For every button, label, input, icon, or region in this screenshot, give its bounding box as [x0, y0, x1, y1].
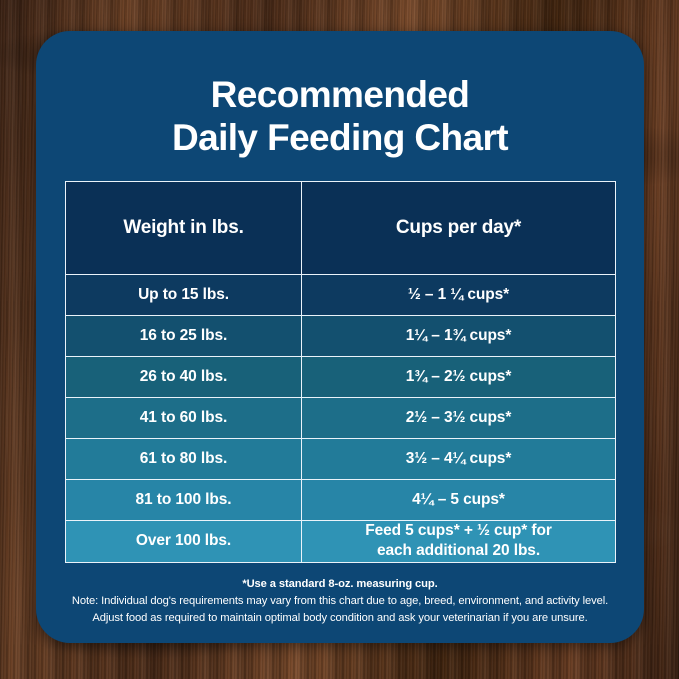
cell-weight: Up to 15 lbs. — [66, 275, 302, 316]
cell-weight: 26 to 40 lbs. — [66, 357, 302, 398]
cell-cups: 1¾ – 2½ cups* — [302, 357, 616, 398]
cell-weight: 81 to 100 lbs. — [66, 480, 302, 521]
table-row: 61 to 80 lbs. 3½ – 4¼ cups* — [66, 439, 616, 480]
title-line-2: Daily Feeding Chart — [36, 116, 644, 159]
table-row: Over 100 lbs. Feed 5 cups* + ½ cup* for … — [66, 521, 616, 563]
table-row: 41 to 60 lbs. 2½ – 3½ cups* — [66, 398, 616, 439]
column-header-cups: Cups per day* — [302, 182, 616, 275]
cell-cups-line-1: Feed 5 cups* + ½ cup* for — [365, 522, 552, 539]
footnote-standard-cup: *Use a standard 8-oz. measuring cup. — [56, 576, 624, 593]
table-row: Up to 15 lbs. ½ – 1 ¼ cups* — [66, 275, 616, 316]
footnote-note-line-1: Note: Individual dog's requirements may … — [56, 593, 624, 610]
feeding-chart-card: Recommended Daily Feeding Chart Weight i… — [36, 31, 644, 643]
cell-weight: 16 to 25 lbs. — [66, 316, 302, 357]
title-line-1: Recommended — [36, 73, 644, 116]
cell-cups: 2½ – 3½ cups* — [302, 398, 616, 439]
cell-weight: Over 100 lbs. — [66, 521, 302, 563]
cell-cups-line-2: each additional 20 lbs. — [377, 542, 540, 559]
table-row: 16 to 25 lbs. 1¼ – 1¾ cups* — [66, 316, 616, 357]
table-row: 81 to 100 lbs. 4¼ – 5 cups* — [66, 480, 616, 521]
footnotes-block: *Use a standard 8-oz. measuring cup. Not… — [56, 576, 624, 627]
cell-weight: 61 to 80 lbs. — [66, 439, 302, 480]
footnote-note-line-2: Adjust food as required to maintain opti… — [56, 610, 624, 627]
feeding-chart-table: Weight in lbs. Cups per day* Up to 15 lb… — [65, 181, 616, 563]
page-title: Recommended Daily Feeding Chart — [36, 31, 644, 160]
table-row: 26 to 40 lbs. 1¾ – 2½ cups* — [66, 357, 616, 398]
cell-cups: 1¼ – 1¾ cups* — [302, 316, 616, 357]
cell-cups: Feed 5 cups* + ½ cup* for each additiona… — [302, 521, 616, 563]
cell-weight: 41 to 60 lbs. — [66, 398, 302, 439]
cell-cups: ½ – 1 ¼ cups* — [302, 275, 616, 316]
cell-cups: 3½ – 4¼ cups* — [302, 439, 616, 480]
cell-cups: 4¼ – 5 cups* — [302, 480, 616, 521]
cell-cups-multiline: Feed 5 cups* + ½ cup* for each additiona… — [302, 521, 615, 562]
column-header-weight: Weight in lbs. — [66, 182, 302, 275]
table-header-row: Weight in lbs. Cups per day* — [66, 182, 616, 275]
